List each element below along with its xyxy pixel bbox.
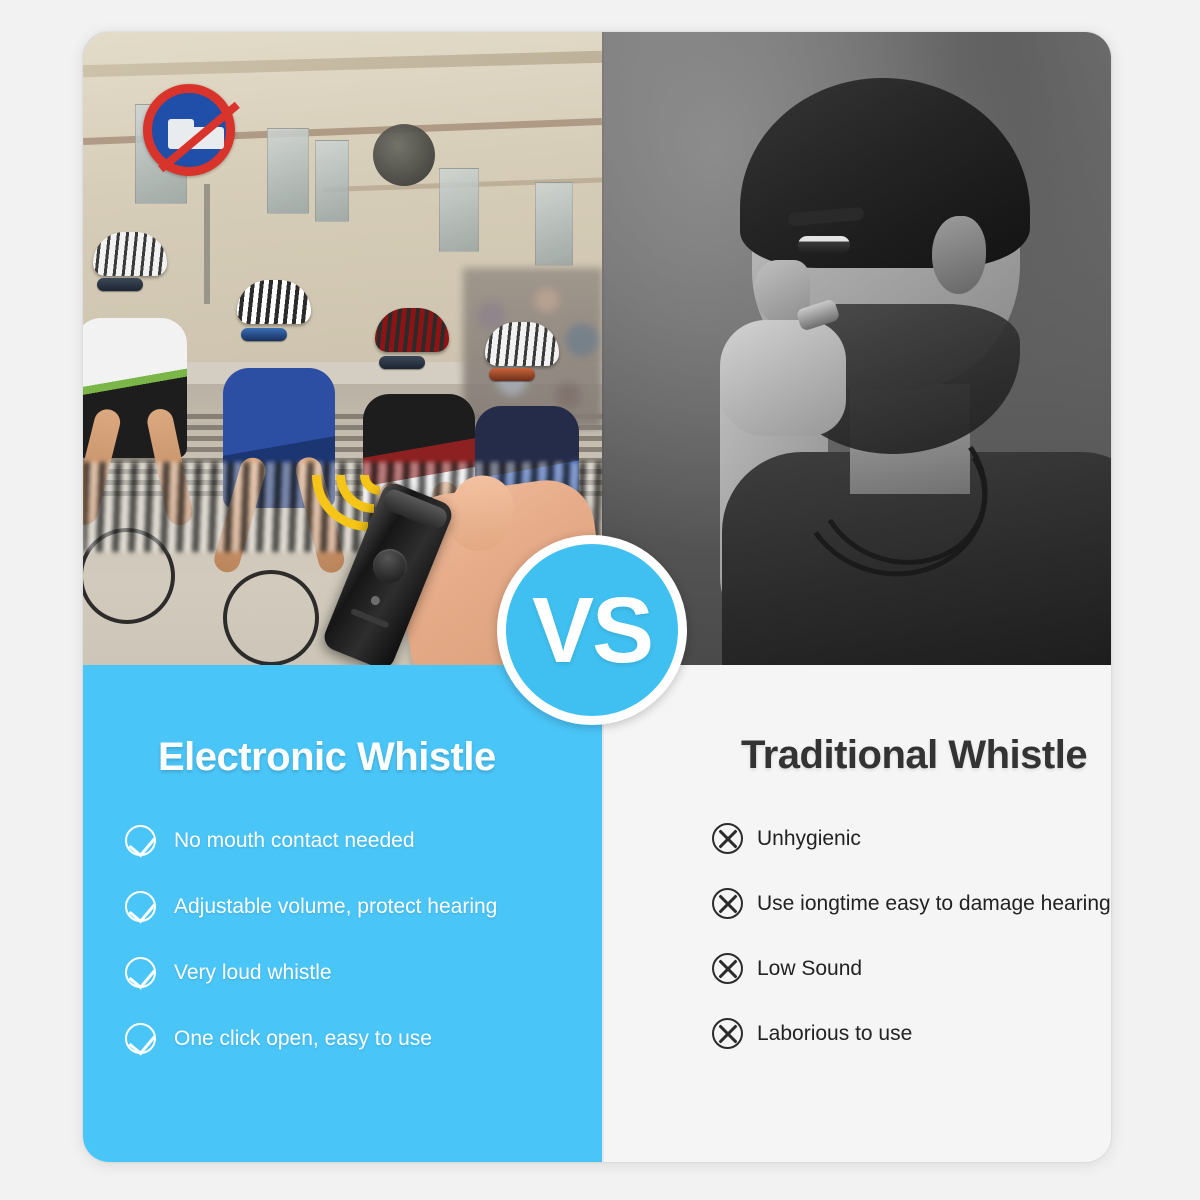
traditional-whistle-content: Traditional Whistle Unhygienic Use iongt… (602, 665, 1111, 1162)
check-circle-icon (125, 957, 156, 988)
x-circle-icon (712, 888, 743, 919)
sign-pole (204, 184, 210, 304)
electronic-whistle-feature-list: No mouth contact needed Adjustable volum… (125, 825, 595, 1089)
feature-label: No mouth contact needed (174, 829, 415, 852)
eye (798, 236, 850, 254)
feature-label: Use iongtime easy to damage hearing (757, 892, 1111, 915)
electronic-whistle-title: Electronic Whistle (158, 737, 496, 777)
building-window (315, 140, 349, 222)
feature-label: One click open, easy to use (174, 1027, 432, 1050)
no-entry-road-sign-icon (143, 84, 235, 176)
feature-item: Low Sound (712, 953, 1111, 984)
feature-label: Low Sound (757, 957, 862, 980)
vs-badge: VS (497, 535, 687, 725)
device-speaker-slot (350, 608, 389, 629)
x-circle-icon (712, 953, 743, 984)
feature-item: Use iongtime easy to damage hearing (712, 888, 1111, 919)
hand-holding-whistle (720, 320, 846, 436)
feature-label: Laborious to use (757, 1022, 912, 1045)
electronic-whistle-content: Electronic Whistle No mouth contact need… (83, 665, 602, 1162)
device-indicator (370, 595, 382, 607)
building-window (439, 168, 479, 252)
feature-item: One click open, easy to use (125, 1023, 595, 1054)
feature-label: Adjustable volume, protect hearing (174, 895, 497, 918)
sign-truck-cab-glyph (168, 119, 194, 131)
ear (932, 216, 986, 294)
feature-item: Unhygienic (712, 823, 1111, 854)
traditional-whistle-title: Traditional Whistle (741, 735, 1087, 775)
feature-item: No mouth contact needed (125, 825, 595, 856)
feature-item: Very loud whistle (125, 957, 595, 988)
building-window (535, 182, 573, 266)
check-circle-icon (125, 825, 156, 856)
feature-label: Unhygienic (757, 827, 861, 850)
building-vent (373, 124, 435, 186)
building-window (267, 128, 309, 214)
comparison-card: Electronic Whistle No mouth contact need… (83, 32, 1111, 1162)
traditional-whistle-feature-list: Unhygienic Use iongtime easy to damage h… (712, 823, 1111, 1083)
check-circle-icon (125, 891, 156, 922)
check-circle-icon (125, 1023, 156, 1054)
feature-item: Laborious to use (712, 1018, 1111, 1049)
vs-label: VS (532, 584, 652, 677)
feature-item: Adjustable volume, protect hearing (125, 891, 595, 922)
x-circle-icon (712, 823, 743, 854)
x-circle-icon (712, 1018, 743, 1049)
feature-label: Very loud whistle (174, 961, 332, 984)
device-button (368, 544, 412, 588)
man-blowing-whistle-photo (602, 32, 1111, 665)
